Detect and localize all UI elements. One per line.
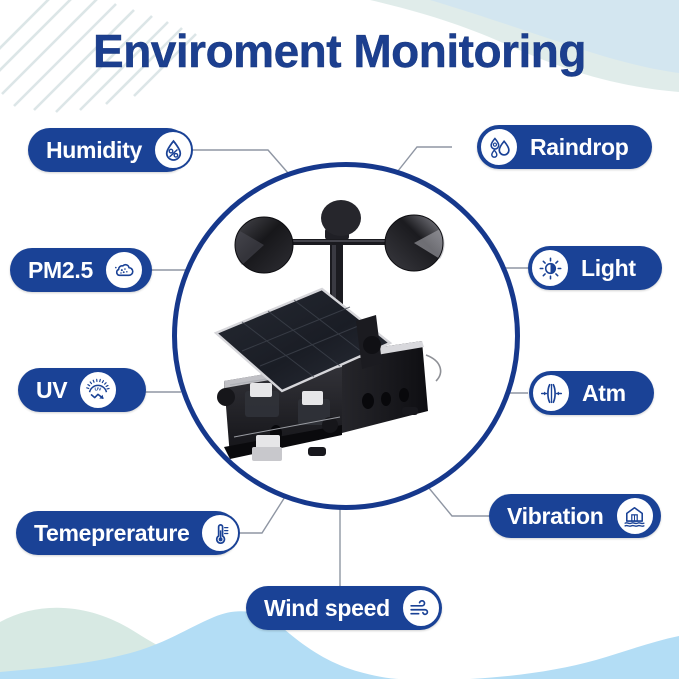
sensor-pill-wind-speed[interactable]: Wind speed [246,586,442,630]
sensor-pill-raindrop[interactable]: Raindrop [477,125,652,169]
sensor-pill-atm[interactable]: Atm [529,371,654,415]
sensor-label-vibration: Vibration [489,505,613,528]
uv-gauge-icon: UV [78,370,118,410]
wind-flow-icon [401,588,441,628]
sensor-label-humidity: Humidity [28,139,151,162]
sensor-label-raindrop: Raindrop [521,136,649,159]
atmospheric-pressure-icon [531,373,571,413]
connector-vibration [424,482,489,516]
humidity-drop-percent-icon [153,130,193,170]
sensor-label-atm: Atm [573,382,646,405]
infographic-canvas: Enviroment Monitoring [0,0,679,679]
svg-text:UV: UV [95,387,103,393]
sensor-pill-light[interactable]: Light [528,246,662,290]
sensor-pill-uv[interactable]: UV UV [18,368,146,412]
sensor-pill-humidity[interactable]: Humidity [28,128,189,172]
vibration-building-icon [615,496,655,536]
sensor-pill-pm25[interactable]: PM2.5 [10,248,152,292]
weather-station-product [190,185,490,485]
sensor-pill-vibration[interactable]: Vibration [489,494,661,538]
page-title: Enviroment Monitoring [0,24,679,78]
sensor-label-light: Light [572,257,656,280]
sensor-label-uv: UV [18,379,76,402]
dust-particle-cloud-icon [104,250,144,290]
sun-light-icon [530,248,570,288]
sensor-label-wind-speed: Wind speed [246,597,399,620]
sensor-pill-temperature[interactable]: Temeprerature [16,511,238,555]
sensor-label-temperature: Temeprerature [16,522,198,545]
sensor-label-pm25: PM2.5 [10,259,102,282]
raindrops-icon [479,127,519,167]
